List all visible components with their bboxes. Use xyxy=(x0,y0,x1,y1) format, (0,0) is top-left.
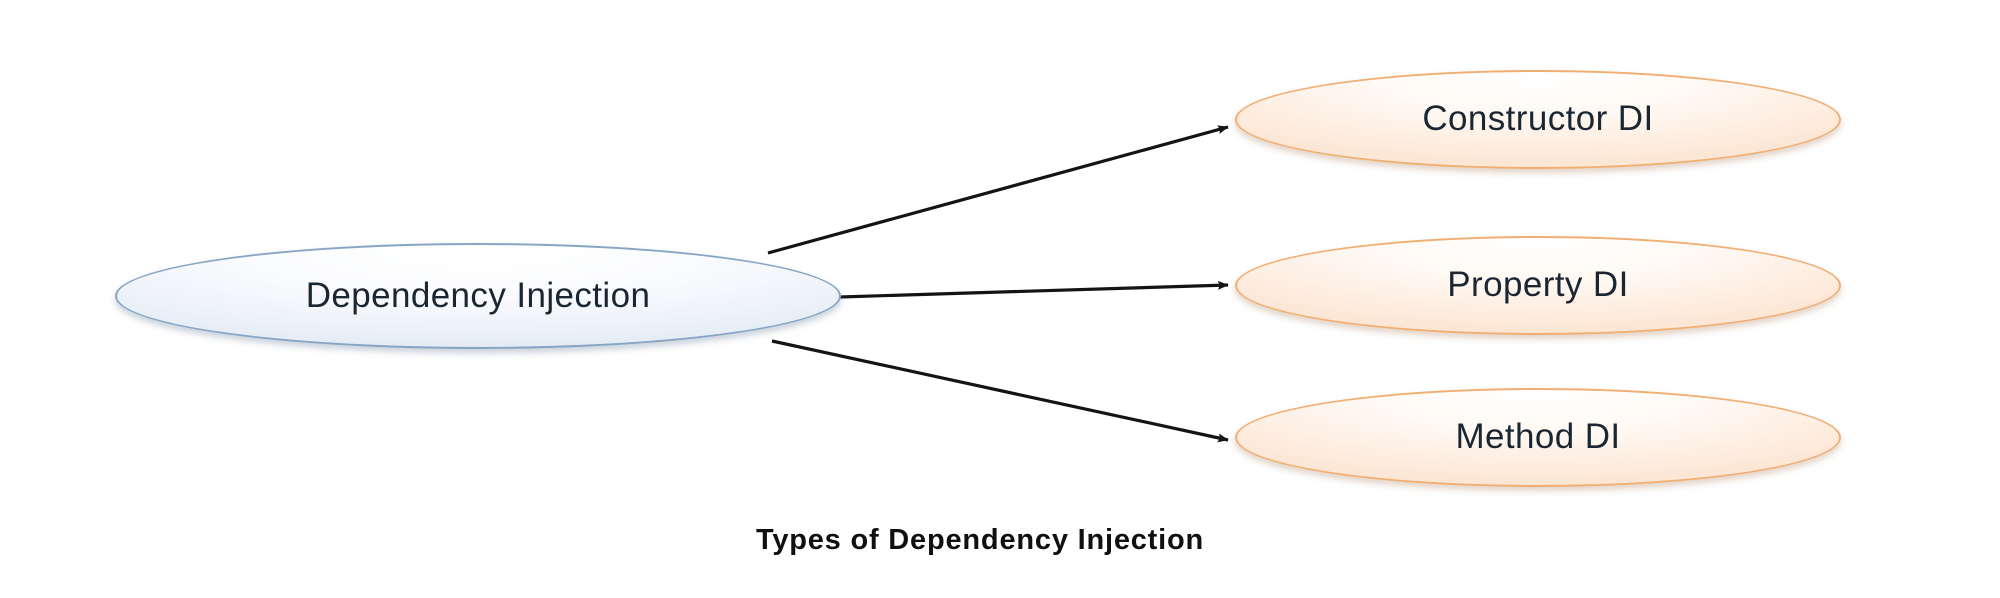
node-constructor-di[interactable]: Constructor DI xyxy=(1235,70,1841,169)
connector-root-to-property-di xyxy=(840,285,1228,297)
connector-root-to-method-di xyxy=(772,341,1228,440)
node-dependency-injection[interactable]: Dependency Injection xyxy=(115,243,841,349)
node-label-constructor-di: Constructor DI xyxy=(1422,101,1653,138)
diagram-caption: Types of Dependency Injection xyxy=(0,524,1960,557)
node-method-di[interactable]: Method DI xyxy=(1235,388,1841,487)
connector-root-to-constructor-di xyxy=(768,127,1228,253)
diagram-canvas: Dependency Injection Constructor DI Prop… xyxy=(0,0,2000,598)
node-label-method-di: Method DI xyxy=(1455,419,1620,456)
node-label-dependency-injection: Dependency Injection xyxy=(306,278,651,315)
node-label-property-di: Property DI xyxy=(1447,267,1628,304)
node-property-di[interactable]: Property DI xyxy=(1235,236,1841,335)
